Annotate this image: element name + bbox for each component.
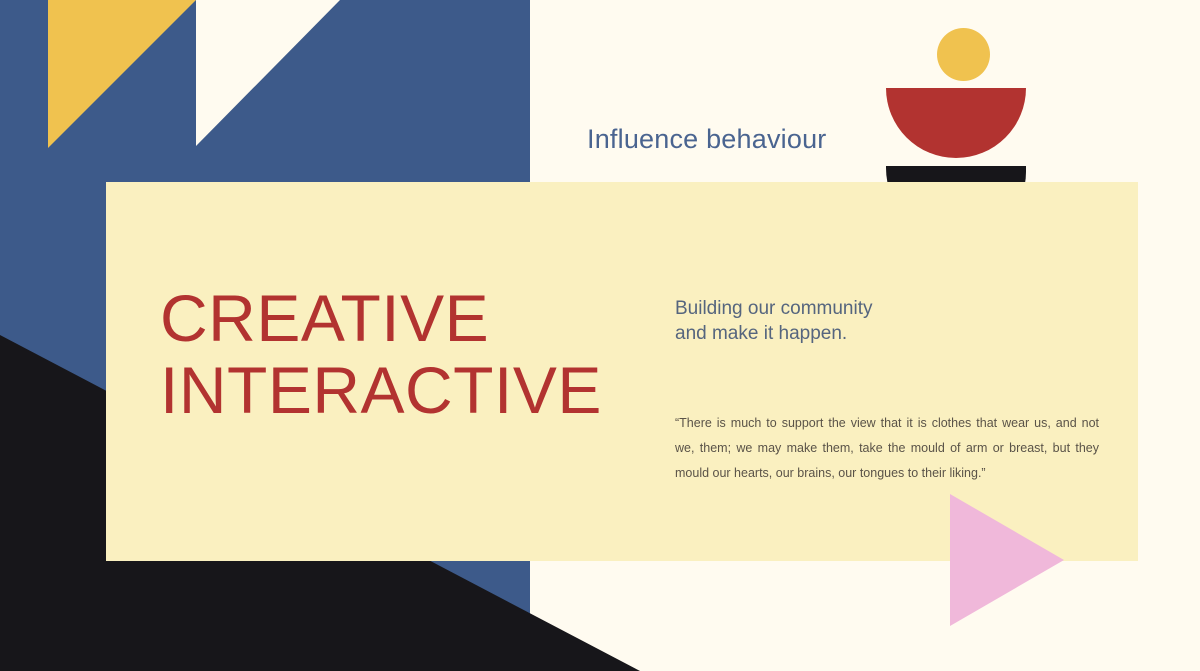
subtitle: Building our community and make it happe… — [675, 296, 1095, 346]
page-title-line-2: INTERACTIVE — [160, 354, 630, 426]
eyebrow-text: Influence behaviour — [587, 124, 826, 155]
yellow-circle-icon — [937, 28, 990, 81]
subtitle-line-1: Building our community — [675, 296, 1095, 321]
red-semicircle-icon — [886, 88, 1026, 158]
quote-paragraph: “There is much to support the view that … — [675, 411, 1099, 486]
subtitle-line-2: and make it happen. — [675, 321, 1095, 346]
slide-canvas: Influence behaviour CREATIVE INTERACTIVE… — [0, 0, 1200, 671]
pink-play-triangle-icon — [950, 494, 1064, 626]
page-title: CREATIVE INTERACTIVE — [160, 282, 630, 426]
page-title-line-1: CREATIVE — [160, 282, 630, 354]
